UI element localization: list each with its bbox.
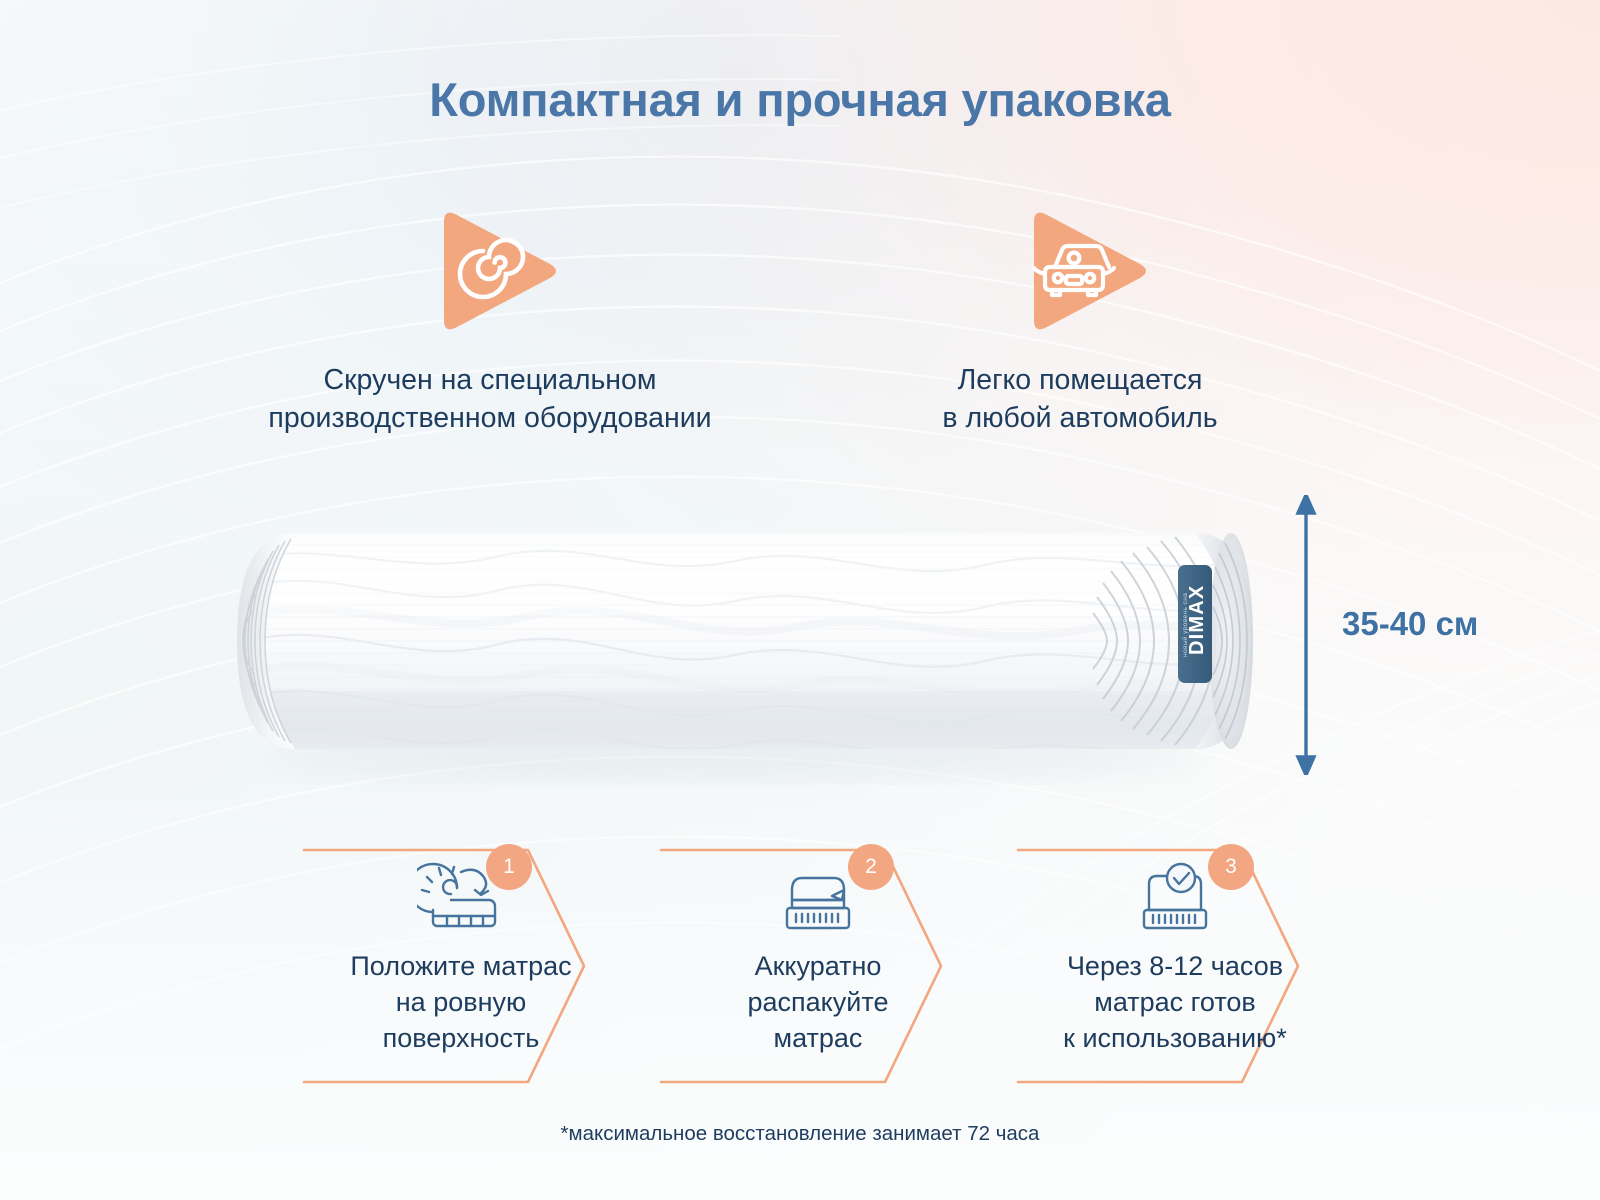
height-dimension-arrow: 35-40 см bbox=[1280, 495, 1560, 775]
step-number-badge: 1 bbox=[486, 844, 532, 890]
page-title: Компактная и прочная упаковка bbox=[0, 72, 1600, 127]
feature-caption: Легко помещается в любой автомобиль bbox=[780, 362, 1380, 438]
spiral-roll-icon bbox=[150, 196, 830, 346]
feature-caption: Скручен на специальном производственном … bbox=[150, 362, 830, 438]
steps-row: 1 Положите матрас на ровную поверхно bbox=[0, 840, 1600, 1100]
feature-block-rolled: Скручен на специальном производственном … bbox=[150, 196, 830, 438]
svg-text:DIMAX: DIMAX bbox=[1186, 585, 1208, 655]
step-number-badge: 3 bbox=[1208, 844, 1254, 890]
dimension-label: 35-40 см bbox=[1342, 605, 1478, 643]
brand-tag: DIMAX новый уровень сна bbox=[1178, 565, 1212, 683]
step-caption: Положите матрас на ровную поверхность bbox=[284, 948, 638, 1057]
car-front-icon bbox=[780, 196, 1380, 346]
measuring-tape-icon bbox=[296, 854, 626, 940]
step-1: 1 Положите матрас на ровную поверхно bbox=[296, 840, 626, 1092]
svg-text:новый уровень сна: новый уровень сна bbox=[1181, 593, 1189, 657]
step-caption: Через 8-12 часов матрас готов к использо… bbox=[998, 948, 1352, 1057]
rolled-mattress-photo: DIMAX новый уровень сна bbox=[175, 495, 1270, 785]
step-3: 3 Через 8-12 часов матрас готов к исполь… bbox=[1010, 840, 1340, 1092]
unwrap-mattress-icon bbox=[653, 854, 983, 940]
step-caption: Аккуратно распакуйте матрас bbox=[641, 948, 995, 1057]
mattress-check-icon bbox=[1010, 854, 1340, 940]
footnote-text: *максимальное восстановление занимает 72… bbox=[0, 1122, 1600, 1146]
promo-banner: Компактная и прочная упаковка Скручен на… bbox=[0, 0, 1600, 1200]
step-2: 2 Аккуратно распакуйте матрас bbox=[653, 840, 983, 1092]
feature-block-car: Легко помещается в любой автомобиль bbox=[780, 196, 1380, 438]
step-number-badge: 2 bbox=[848, 844, 894, 890]
